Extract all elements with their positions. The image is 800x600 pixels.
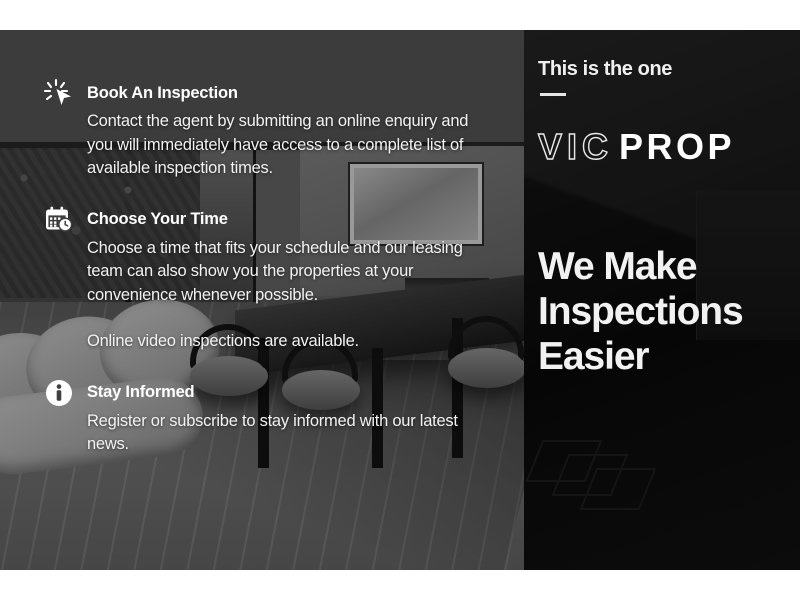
feature-body: Contact the agent by submitting an onlin… [87,110,494,181]
feature-body: Choose a time that fits your schedule an… [87,237,494,354]
brand-panel: This is the one VIC PROP We Make Inspect… [524,30,800,570]
feature-item-stay-informed[interactable]: Stay Informed Register or subscribe to s… [44,378,494,457]
feature-body: Register or subscribe to stay informed w… [87,410,494,457]
vicprop-logo: VIC PROP [538,126,784,168]
banner-canvas: Book An Inspection Contact the agent by … [0,0,800,600]
brand-headline: We Make Inspections Easier [538,244,784,379]
brand-panel-content: This is the one VIC PROP We Make Inspect… [524,30,800,570]
feature-title: Stay Informed [87,383,194,402]
brand-kicker: This is the one [538,58,784,81]
feature-list: Book An Inspection Contact the agent by … [0,30,524,570]
feature-body-extra: Online video inspections are available. [87,332,359,350]
feature-heading: Book An Inspection [44,78,494,108]
feature-body-text: Contact the agent by submitting an onlin… [87,112,468,177]
feature-item-choose-your-time[interactable]: Choose Your Time Choose a time that fits… [44,205,494,354]
logo-outline-text: VIC [538,126,613,168]
feature-body-text: Register or subscribe to stay informed w… [87,412,458,454]
headline-line-3: Easier [538,334,784,379]
feature-title: Choose Your Time [87,210,228,229]
paragraph-gap [87,307,494,330]
headline-line-1: We Make [538,244,784,289]
feature-body-text: Choose a time that fits your schedule an… [87,239,463,304]
info-circle-icon [44,378,74,408]
left-feature-panel: Book An Inspection Contact the agent by … [0,30,524,570]
feature-heading: Choose Your Time [44,205,494,235]
calendar-clock-icon [44,205,74,235]
brand-rule-divider [540,93,566,96]
feature-title: Book An Inspection [87,84,238,103]
logo-solid-text: PROP [619,126,735,168]
headline-line-2: Inspections [538,289,784,334]
feature-heading: Stay Informed [44,378,494,408]
click-cursor-icon [44,78,74,108]
promo-banner: Book An Inspection Contact the agent by … [0,30,800,570]
feature-item-book-an-inspection[interactable]: Book An Inspection Contact the agent by … [44,78,494,181]
